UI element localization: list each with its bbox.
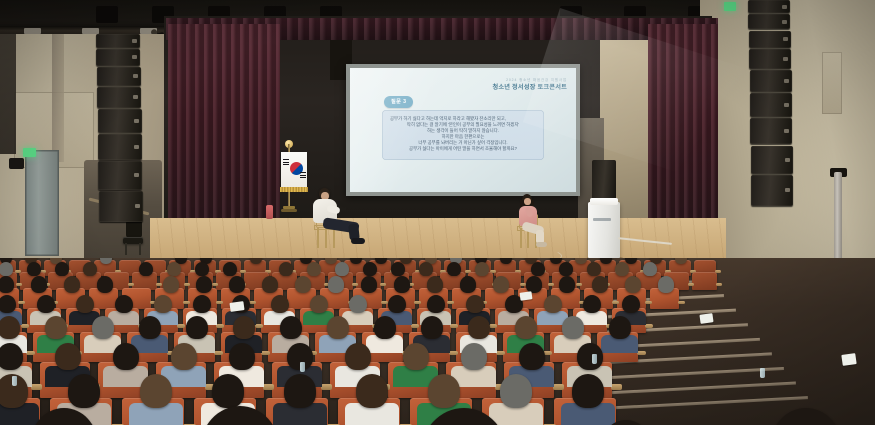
audience-head — [307, 262, 321, 277]
seat-armrest — [380, 283, 386, 286]
audience-head — [615, 262, 629, 277]
audience-head — [421, 316, 443, 339]
speaker-cabinet — [97, 87, 141, 108]
audience-head — [419, 262, 433, 277]
audience-head — [572, 374, 604, 408]
seat-armrest — [450, 324, 458, 328]
seat-armrest — [716, 283, 722, 286]
seat-armrest — [411, 324, 419, 328]
seat-armrest — [255, 324, 263, 328]
auditorium-photo: 2024 청소년 마음건강 지원사업 청소년 정서성장 토크콘서트 질문 3 공… — [0, 0, 875, 425]
seat-armrest — [321, 384, 332, 390]
speaker-cabinet — [96, 34, 140, 48]
stage-prop — [266, 205, 273, 219]
seat-armrest — [263, 384, 274, 390]
audience-head — [310, 295, 328, 314]
wall-mounted-speaker-icon — [9, 158, 24, 169]
seat-armrest — [214, 351, 223, 356]
seat-armrest — [249, 301, 256, 304]
audience-head — [466, 295, 484, 314]
audience-head — [427, 295, 445, 314]
speaker-cabinet — [97, 67, 141, 86]
audience-head — [577, 343, 603, 370]
seat-armrest — [553, 384, 564, 390]
seat-armrest — [576, 283, 582, 286]
audience-head — [284, 374, 316, 408]
speaker-cabinet — [98, 161, 142, 189]
audience-head — [193, 295, 211, 314]
audience-head — [27, 262, 41, 277]
audience-head — [394, 276, 410, 293]
audience-head — [167, 262, 181, 277]
audience-head — [531, 262, 545, 277]
seat-armrest — [21, 324, 29, 328]
audience-head — [55, 343, 81, 370]
audience-head — [0, 316, 20, 339]
audience-head — [592, 276, 608, 293]
audience-head — [461, 343, 487, 370]
audience-head — [195, 262, 209, 277]
audience-head — [280, 316, 302, 339]
projection-screen: 2024 청소년 마음건강 지원사업 청소년 정서성장 토크콘서트 질문 3 공… — [350, 68, 576, 192]
audience-head — [328, 276, 344, 293]
audience-head — [345, 343, 371, 370]
seat-armrest — [183, 301, 190, 304]
audience-head — [583, 295, 601, 314]
audience-head — [31, 276, 47, 293]
audience-head — [271, 295, 289, 314]
water-bottle — [760, 368, 765, 378]
audience-head — [349, 295, 367, 314]
audience-head — [154, 295, 172, 314]
audience-head — [163, 276, 179, 293]
seat-armrest — [261, 351, 270, 356]
audience-head — [526, 276, 542, 293]
audience-head — [140, 374, 172, 408]
audience-head — [609, 316, 631, 339]
presenter-white-shirt — [305, 188, 367, 250]
speaker-cabinet — [96, 49, 140, 65]
audience-head — [643, 262, 657, 277]
question-line: 공부가 싫다는 아이에게 어떤 말을 하면서 조율해야 할까요? — [387, 146, 539, 152]
audience-head — [515, 316, 537, 339]
slide-title: 청소년 정서성장 토크콘서트 — [492, 82, 567, 91]
audience-head — [500, 374, 532, 408]
audience-head — [460, 276, 476, 293]
seat-armrest — [16, 283, 22, 286]
audience-head — [196, 276, 212, 293]
water-bottle — [300, 362, 305, 372]
speaker-cabinet — [98, 109, 142, 133]
audience-head — [622, 295, 640, 314]
audience-seating — [0, 258, 875, 425]
seat-armrest — [216, 301, 223, 304]
seat-armrest — [645, 324, 653, 328]
audience-head — [68, 374, 100, 408]
seat-armrest — [688, 283, 694, 286]
handout-paper — [520, 291, 533, 301]
seat-armrest — [678, 301, 685, 304]
handout-paper — [699, 313, 713, 324]
stage-curtain-right — [648, 24, 718, 234]
audience-head — [475, 262, 489, 277]
exit-sign-icon — [23, 148, 36, 157]
audience-head — [544, 295, 562, 314]
korean-flag-icon — [274, 140, 308, 226]
audience-head — [279, 262, 293, 277]
audience-head — [115, 295, 133, 314]
seat-armrest — [31, 384, 42, 390]
audience-head — [625, 276, 641, 293]
seat-armrest — [612, 301, 619, 304]
seat-armrest — [548, 283, 554, 286]
speaker-cabinet — [749, 49, 791, 69]
seat-armrest — [381, 301, 388, 304]
audience-head — [391, 262, 405, 277]
seat-armrest — [18, 301, 25, 304]
speaker-cabinet — [98, 134, 142, 160]
aisle-step — [592, 367, 784, 380]
audience-head — [0, 262, 13, 277]
exit-sign-icon-right — [724, 2, 736, 11]
audience-head — [363, 262, 377, 277]
audience-head — [559, 262, 573, 277]
audience-head — [295, 276, 311, 293]
speaker-cabinet — [748, 14, 790, 29]
left-wall-column — [52, 34, 64, 162]
audience-head — [388, 295, 406, 314]
audience-head — [587, 262, 601, 277]
audience-head — [327, 316, 349, 339]
question-badge: 질문 3 — [384, 96, 413, 108]
audience-head — [658, 276, 674, 293]
seat-armrest — [26, 351, 35, 356]
speaker-cabinet — [751, 146, 793, 174]
seat-armrest — [449, 351, 458, 356]
audience-head — [233, 316, 255, 339]
audience-head — [97, 276, 113, 293]
left-wall-shadow — [0, 34, 16, 154]
speaker-cabinet — [99, 191, 143, 222]
audience-head — [468, 316, 490, 339]
speaker-cabinet — [750, 70, 792, 92]
audience-head — [113, 343, 139, 370]
audience-head — [76, 295, 94, 314]
audience-head — [427, 276, 443, 293]
seat-armrest — [611, 384, 622, 390]
audience-head — [361, 276, 377, 293]
audience-head-foreground — [770, 408, 842, 425]
alcove-chair — [120, 220, 144, 256]
speaker-cabinet — [749, 31, 791, 48]
audience-head — [37, 295, 55, 314]
audience-head — [92, 316, 114, 339]
handout-paper — [229, 301, 244, 312]
audience-head — [223, 262, 237, 277]
audience-head — [559, 276, 575, 293]
question-text-box: 공부가 하기 싫다고 하는데 억지로 하라고 해봤자 잔소리만 되고,딱히 없다… — [382, 110, 544, 160]
audience-head — [139, 316, 161, 339]
right-wall-acoustic-panel — [822, 52, 842, 114]
air-purifier-icon — [588, 196, 620, 260]
audience-head — [139, 262, 153, 277]
audience-head — [229, 276, 245, 293]
projection-screen-frame: 2024 청소년 마음건강 지원사업 청소년 정서성장 토크콘서트 질문 3 공… — [346, 64, 580, 196]
seat-armrest — [212, 283, 218, 286]
audience-head — [186, 316, 208, 339]
audience-head — [0, 276, 14, 293]
audience-head — [447, 262, 461, 277]
speaker-cabinet — [748, 0, 790, 13]
audience-head — [0, 295, 16, 314]
seat-armrest — [645, 301, 652, 304]
audience-head — [0, 343, 23, 370]
truss-junction-box — [96, 6, 118, 23]
audience-head — [229, 343, 255, 370]
seat-armrest — [156, 283, 162, 286]
seat-armrest — [216, 324, 224, 328]
aisle-step — [584, 396, 808, 411]
audience-head — [403, 343, 429, 370]
water-bottle — [592, 354, 597, 364]
seat-armrest — [128, 283, 134, 286]
handout-paper — [841, 353, 856, 366]
seat-armrest — [352, 283, 358, 286]
audience-head — [374, 316, 396, 339]
audience-head — [428, 374, 460, 408]
seat-armrest — [184, 283, 190, 286]
audience-head — [335, 262, 349, 277]
seat-armrest — [177, 324, 185, 328]
audience-head — [45, 316, 67, 339]
presenter-pink-top — [512, 194, 566, 252]
audience-head — [171, 343, 197, 370]
water-bottle — [12, 376, 17, 386]
audience-head — [519, 343, 545, 370]
speaker-cabinet — [751, 175, 793, 206]
seat-armrest — [414, 301, 421, 304]
audience-head — [55, 262, 69, 277]
audience-head — [493, 276, 509, 293]
audience-head — [262, 276, 278, 293]
speaker-cabinet — [750, 93, 792, 117]
audience-head — [64, 276, 80, 293]
speaker-cabinet — [750, 118, 792, 144]
audience-seat[interactable] — [692, 272, 717, 290]
stage-curtain-left — [168, 24, 280, 234]
audience-head — [356, 374, 388, 408]
seat-armrest — [520, 283, 526, 286]
seat-armrest — [447, 301, 454, 304]
audience-head — [83, 262, 97, 277]
seat-armrest — [637, 351, 646, 356]
seat-armrest — [496, 351, 505, 356]
left-exit-door[interactable] — [25, 150, 59, 256]
audience-head — [212, 374, 244, 408]
seat-armrest — [489, 324, 497, 328]
audience-head — [562, 316, 584, 339]
